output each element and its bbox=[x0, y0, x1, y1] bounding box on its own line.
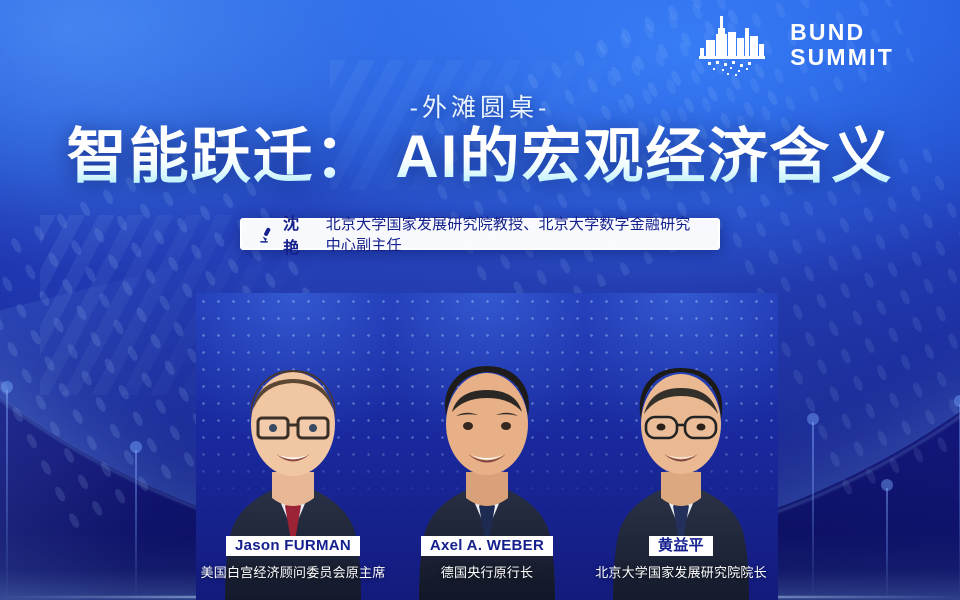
bund-summit-logo: BUND SUMMIT bbox=[694, 14, 894, 76]
logo-line-1: BUND bbox=[790, 20, 894, 45]
speaker-name: Jason FURMAN bbox=[226, 536, 360, 556]
shanghai-skyline-icon bbox=[694, 14, 778, 76]
portrait-jason-furman bbox=[196, 332, 390, 600]
page-title: 智能跃迁： AI的宏观经济含义 bbox=[0, 121, 960, 193]
speaker-nameplate: Jason FURMAN bbox=[196, 536, 390, 556]
logo-wordmark: BUND SUMMIT bbox=[790, 20, 894, 70]
session-kicker: -外滩圆桌- bbox=[0, 88, 960, 124]
moderator-role: 北京大学国家发展研究院教授、北京大学数字金融研究中心副主任 bbox=[326, 213, 702, 255]
microphone-icon bbox=[258, 225, 274, 243]
speaker-name: Axel A. WEBER bbox=[421, 536, 553, 556]
portrait-huang-yiping bbox=[584, 332, 778, 600]
logo-line-2: SUMMIT bbox=[790, 45, 894, 70]
moderator-bar: 沈 艳 北京大学国家发展研究院教授、北京大学数字金融研究中心副主任 bbox=[240, 218, 720, 250]
speaker-panel: 黄益平 北京大学国家发展研究院院长 bbox=[584, 293, 778, 600]
presentation-slide: BUND SUMMIT -外滩圆桌- 智能跃迁： AI的宏观经济含义 沈 艳 北… bbox=[0, 0, 960, 600]
portrait-axel-weber bbox=[390, 332, 584, 600]
speaker-nameplate: Axel A. WEBER bbox=[390, 536, 584, 556]
speaker-role: 德国央行原行长 bbox=[390, 562, 584, 581]
speaker-role: 美国白宫经济顾问委员会原主席 bbox=[196, 562, 390, 581]
speaker-name: 黄益平 bbox=[649, 536, 713, 556]
speaker-panels: Jason FURMAN 美国白宫经济顾问委员会原主席 bbox=[196, 293, 778, 600]
speaker-panel: Axel A. WEBER 德国央行原行长 bbox=[390, 293, 584, 600]
moderator-name: 沈 艳 bbox=[283, 210, 317, 258]
speaker-nameplate: 黄益平 bbox=[584, 536, 778, 556]
speaker-panel: Jason FURMAN 美国白宫经济顾问委员会原主席 bbox=[196, 293, 390, 600]
speaker-role: 北京大学国家发展研究院院长 bbox=[584, 562, 778, 581]
